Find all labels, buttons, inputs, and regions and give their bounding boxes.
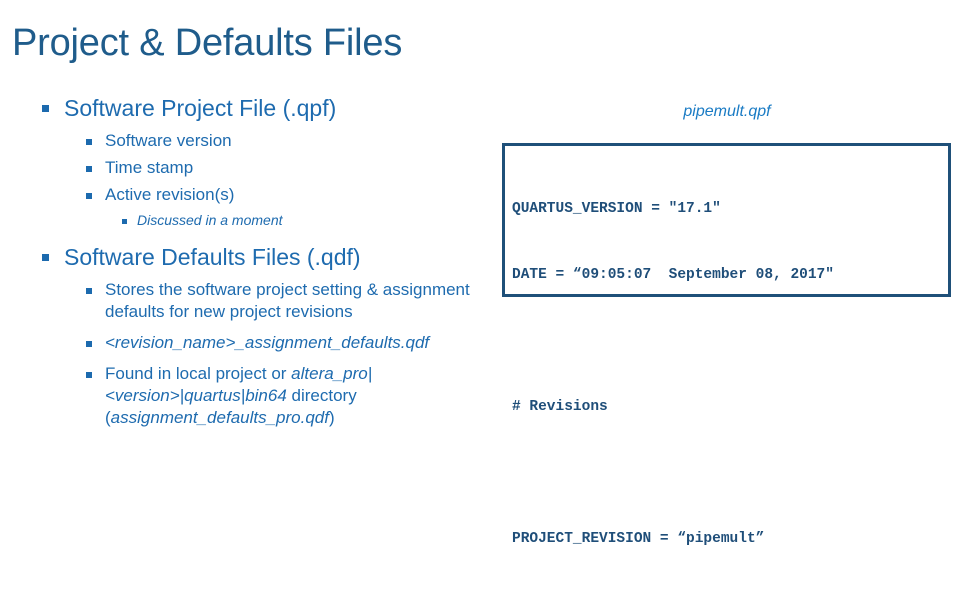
code-panel-caption: pipemult.qpf [502, 103, 952, 121]
bullet-stores-defaults: Stores the software project setting & as… [36, 279, 486, 323]
bullet-marker-icon [42, 105, 49, 112]
bullet-found-in-local-project: Found in local project or altera_pro|<ve… [36, 363, 486, 429]
bullet-text: Software Project File (.qpf) [64, 94, 486, 123]
bullet-discussed-in-a-moment: Discussed in a moment [36, 211, 486, 230]
bullet-text-prefix: Found in local project or [105, 364, 291, 383]
bullet-text: Software Defaults Files (.qdf) [64, 243, 486, 272]
spacer [36, 230, 486, 243]
bullet-software-defaults-files: Software Defaults Files (.qdf) [36, 243, 486, 272]
bullet-marker-icon [86, 341, 92, 347]
bullet-text-filename: assignment_defaults_pro.qdf [111, 408, 329, 427]
code-content: QUARTUS_VERSION = "17.1" DATE = “09:05:0… [505, 146, 948, 594]
page-title: Project & Defaults Files [12, 22, 402, 66]
bullet-text: Time stamp [105, 157, 486, 179]
bullet-marker-icon [86, 139, 92, 145]
code-line: PROJECT_REVISION = “pipemult” [512, 528, 948, 550]
code-line [512, 330, 948, 352]
bullet-text: Stores the software project setting & as… [105, 279, 486, 323]
code-line [512, 462, 948, 484]
bullet-marker-icon [42, 254, 49, 261]
bullet-marker-icon [86, 166, 92, 172]
bullet-time-stamp: Time stamp [36, 157, 486, 179]
bullet-marker-icon [86, 372, 92, 378]
bullet-revision-defaults-filename: <revision_name>_assignment_defaults.qdf [36, 332, 486, 354]
bullet-marker-icon [122, 219, 127, 224]
spacer [36, 354, 486, 363]
bullet-list: Software Project File (.qpf) Software ve… [36, 94, 486, 429]
bullet-text-suffix: ) [329, 408, 335, 427]
slide-canvas: Project & Defaults Files Software Projec… [0, 0, 960, 487]
bullet-text: Active revision(s) [105, 184, 486, 206]
bullet-marker-icon [86, 193, 92, 199]
bullet-active-revisions: Active revision(s) [36, 184, 486, 206]
spacer [36, 323, 486, 332]
bullet-software-project-file: Software Project File (.qpf) [36, 94, 486, 123]
bullet-text: <revision_name>_assignment_defaults.qdf [105, 332, 457, 354]
bullet-text: Discussed in a moment [137, 211, 486, 230]
code-line: # Revisions [512, 396, 948, 418]
bullet-marker-icon [86, 288, 92, 294]
bullet-text: Found in local project or altera_pro|<ve… [105, 363, 486, 429]
bullet-text: Software version [105, 130, 486, 152]
bullet-software-version: Software version [36, 130, 486, 152]
code-line: DATE = “09:05:07 September 08, 2017" [512, 264, 948, 286]
code-panel: QUARTUS_VERSION = "17.1" DATE = “09:05:0… [502, 143, 951, 297]
code-line: QUARTUS_VERSION = "17.1" [512, 198, 948, 220]
